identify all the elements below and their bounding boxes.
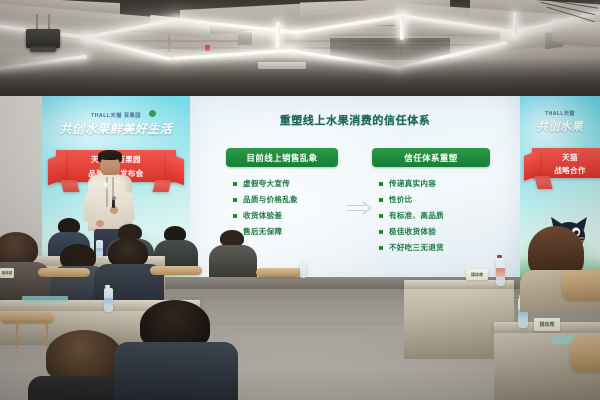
bullet-square-icon — [379, 246, 383, 250]
bullet-item: 极佳收货体验 — [379, 226, 490, 237]
banner-right-headline: 共创水果 — [520, 118, 600, 134]
bullet-square-icon — [379, 182, 383, 186]
bullet-item: 虚假夸大宣传 — [233, 178, 338, 189]
slide-column-right-header: 信任体系重塑 — [372, 148, 490, 167]
photo-scene: THALL天猫 百果园 共创水果鲜美好生活 天猫 X 百果园 品牌合作发布会 T… — [0, 0, 600, 400]
handheld-microphone — [112, 199, 115, 208]
banner-right-ribbon-line1: 天猫 — [532, 152, 600, 163]
bullet-square-icon — [233, 198, 237, 202]
chair — [562, 270, 600, 300]
water-bottle — [300, 262, 307, 278]
chair — [256, 268, 302, 277]
chair — [38, 268, 90, 277]
bullet-item: 有标准、高品质 — [379, 210, 490, 221]
chair — [570, 336, 600, 372]
bullet-item: 收货体验差 — [233, 210, 338, 221]
slide-column-problems: 目前线上销售乱象 虚假夸大宣传 品质与价格乱象 收货体验差 售后无保障 — [226, 148, 338, 242]
bullet-text: 有标准、高品质 — [389, 210, 444, 221]
bullet-text: 极佳收货体验 — [389, 226, 436, 237]
bullet-square-icon — [379, 198, 383, 202]
banner-left-logos: THALL天猫 百果园 — [42, 112, 190, 119]
slide-column-right-bullets: 传递真实内容 性价比 有标准、高品质 极佳收货体验 不好吃三无退货 — [372, 178, 490, 253]
bullet-square-icon — [379, 214, 383, 218]
banner-left-headline: 共创水果鲜美好生活 — [42, 120, 190, 137]
bullet-text: 售后无保障 — [243, 226, 282, 237]
slide-column-left-bullets: 虚假夸大宣传 品质与价格乱象 收货体验差 售后无保障 — [226, 178, 338, 237]
bullet-text: 收货体验差 — [243, 210, 282, 221]
slide-title: 重塑线上水果消费的信任体系 — [190, 112, 520, 128]
baiguoyuan-logo-icon — [149, 110, 156, 117]
bullet-item: 不好吃三无退货 — [379, 242, 490, 253]
bullet-text: 不好吃三无退货 — [389, 242, 444, 253]
slide-column-left-header: 目前线上销售乱象 — [226, 148, 338, 167]
bullet-item: 售后无保障 — [233, 226, 338, 237]
table-tent-card: 媒体席 — [0, 268, 14, 278]
bullet-text: 传递真实内容 — [389, 178, 436, 189]
lapel-flower — [102, 182, 109, 189]
bullet-text: 品质与价格乱象 — [243, 194, 298, 205]
bullet-item: 性价比 — [379, 194, 490, 205]
slide-column-solutions: 信任体系重塑 传递真实内容 性价比 有标准、高品质 极佳收货体验 — [372, 148, 490, 258]
bullet-text: 性价比 — [389, 194, 413, 205]
right-arrow-icon — [346, 200, 374, 216]
bullet-text: 虚假夸大宣传 — [243, 178, 290, 189]
bullet-square-icon — [233, 214, 237, 218]
banner-right-ribbon-line2: 战略合作 — [532, 165, 600, 176]
chair — [150, 266, 202, 275]
bullet-square-icon — [233, 182, 237, 186]
table-tent-card: 媒体席 — [534, 318, 560, 331]
banner-right-logos: THALL天猫 — [520, 110, 600, 117]
ceiling — [0, 0, 600, 96]
bullet-square-icon — [379, 230, 383, 234]
bullet-item: 品质与价格乱象 — [233, 194, 338, 205]
ceiling-red-indicator — [205, 45, 210, 51]
bullet-item: 传递真实内容 — [379, 178, 490, 189]
table-tent-card: 媒体席 — [466, 269, 488, 280]
